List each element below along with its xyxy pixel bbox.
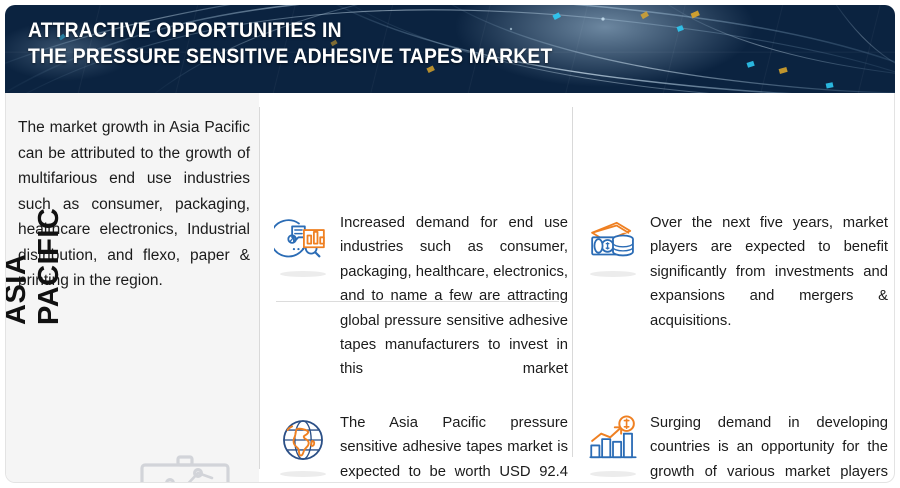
- icon-shadow: [280, 471, 326, 477]
- divider-middle: [572, 107, 573, 457]
- money-investment-icon: [584, 211, 642, 269]
- divider-left: [259, 107, 260, 469]
- opportunity-text-4: Surging demand in developing countries i…: [650, 411, 888, 483]
- opportunity-item-1: Increased demand for end use industries …: [274, 211, 569, 406]
- left-region-panel: The market growth in Asia Pacific can be…: [6, 93, 259, 483]
- growth-bar-chart-icon: [584, 411, 642, 469]
- icon-shadow: [280, 271, 326, 277]
- header-banner: ATTRACTIVE OPPORTUNITIES IN THE PRESSURE…: [5, 5, 895, 93]
- presentation-chart-search-icon: [128, 451, 248, 483]
- body-panel: The market growth in Asia Pacific can be…: [5, 93, 895, 483]
- icon-shadow: [590, 271, 636, 277]
- globe-icon: [274, 411, 332, 469]
- icon-shadow: [590, 471, 636, 477]
- market-analysis-icon: [274, 211, 332, 269]
- opportunity-text-2: The Asia Pacific pressure sensitive adhe…: [340, 411, 568, 483]
- opportunity-item-3: Over the next five years, market players…: [584, 211, 892, 357]
- opportunity-text-1: Increased demand for end use industries …: [340, 211, 568, 406]
- region-label: ASIA PACIFIC: [5, 175, 66, 325]
- page-title: ATTRACTIVE OPPORTUNITIES IN THE PRESSURE…: [28, 18, 552, 70]
- opportunity-text-3: Over the next five years, market players…: [650, 211, 888, 357]
- infographic-canvas: ATTRACTIVE OPPORTUNITIES IN THE PRESSURE…: [0, 0, 900, 488]
